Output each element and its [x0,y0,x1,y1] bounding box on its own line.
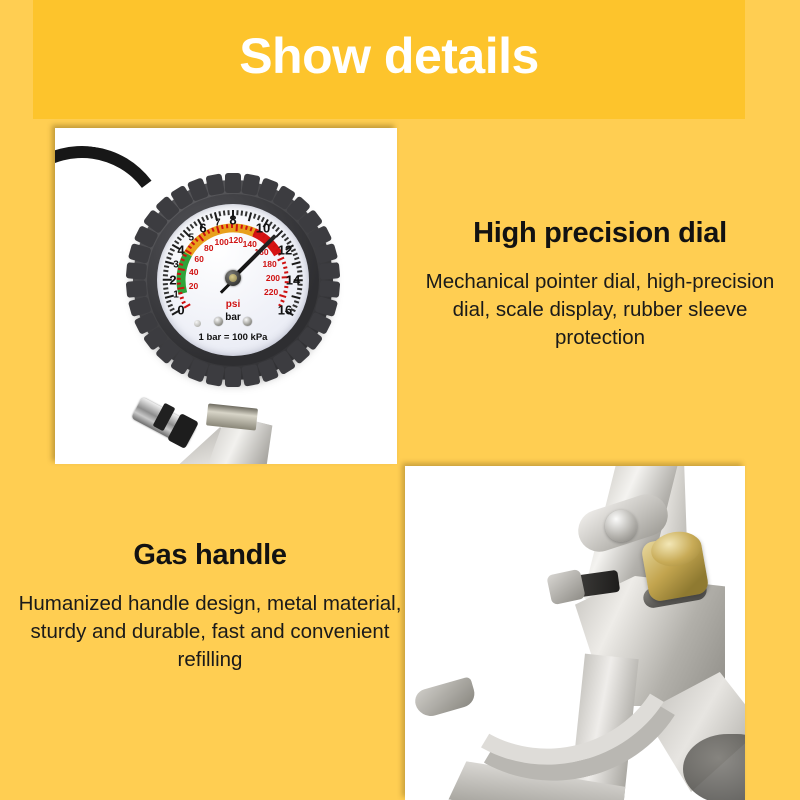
bezel-tooth [225,367,241,387]
feature-body-handle: Humanized handle design, metal material,… [14,590,406,675]
bezel-tooth [241,364,260,387]
handle-illustration [405,466,745,800]
bezel-tooth [225,173,241,193]
bar-scale-number: 14 [286,273,300,288]
psi-unit-label: psi [226,299,240,310]
psi-scale-number: 100 [214,237,228,247]
bar-scale-number: 10 [256,221,270,236]
conversion-note: 1 bar = 100 kPa [199,332,268,343]
psi-tick-minor [177,273,181,275]
psi-scale-number: 80 [204,243,213,253]
gauge-illustration: 02468101214161357 2040608010012014016018… [55,128,397,464]
needle-stop-pin [194,320,201,327]
bar-scale-number: 0 [177,303,184,318]
bezel-tooth [126,262,147,280]
psi-scale-number: 220 [264,287,278,297]
bar-scale-number-minor: 1 [173,290,179,301]
psi-scale-number: 120 [229,235,243,245]
bar-scale-number-minor: 7 [215,218,221,229]
bar-scale-number: 16 [278,303,292,318]
bar-tick-minor [163,275,168,277]
pressure-gauge-photo: 02468101214161357 2040608010012014016018… [55,128,397,464]
psi-tick-minor [226,224,228,228]
bar-scale-number: 8 [229,213,236,228]
bar-scale-number: 12 [278,243,292,258]
gas-handle-photo [405,466,745,800]
psi-tick-minor [177,283,181,285]
needle-hub-center [229,274,237,282]
psi-tick-minor [177,278,181,280]
bezel-tooth [319,262,340,280]
feature-heading-handle: Gas handle [14,540,406,572]
feature-block-handle: Gas handle Humanized handle design, meta… [14,540,406,675]
psi-scale-number: 60 [194,254,203,264]
gauge-bezel: 02468101214161357 2040608010012014016018… [133,180,333,380]
bar-scale-number: 6 [199,221,206,236]
bezel-tooth [205,173,224,196]
psi-scale-number: 40 [189,267,198,277]
header-banner: Show details [33,0,745,119]
dial-screw-left-icon [214,317,223,326]
bar-tick-minor [163,284,168,286]
bar-scale-number-minor: 3 [173,259,179,270]
bar-scale-number: 4 [177,243,184,258]
dial-face: 02468101214161357 2040608010012014016018… [157,204,309,356]
psi-scale-number: 200 [266,273,280,283]
infographic-page: Show details 024681012 [0,0,800,800]
bezel-tooth [319,280,340,298]
page-title: Show details [239,31,539,81]
feature-body-dial: Mechanical pointer dial, high-precision … [425,268,775,353]
pivot-ball [605,510,637,542]
psi-scale-number: 180 [262,259,276,269]
bar-scale-number-minor: 5 [188,233,194,244]
psi-scale-number: 20 [189,281,198,291]
feature-heading-dial: High precision dial [425,218,775,250]
dial-screw-right-icon [243,317,252,326]
bar-unit-label: bar [225,312,241,323]
bezel-tooth [126,280,147,298]
feature-block-dial: High precision dial Mechanical pointer d… [425,218,775,353]
bar-scale-number: 2 [169,273,176,288]
